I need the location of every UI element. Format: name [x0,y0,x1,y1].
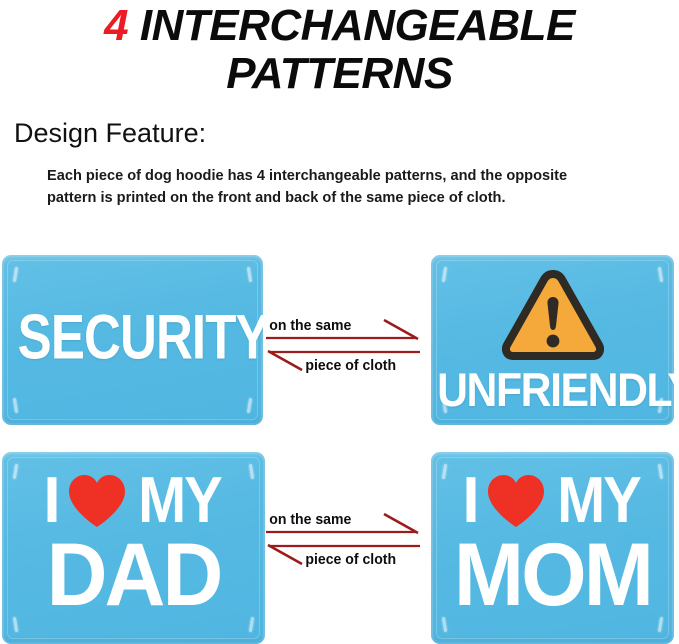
page-title-line-2: PATTERNS [0,50,679,98]
page-title: 4 INTERCHANGEABLE PATTERNS [0,0,679,98]
pattern-count: 4 [104,1,128,50]
design-feature-heading: Design Feature: [14,117,206,149]
corner-tab-icon [249,617,254,632]
warning-triangle-icon [502,269,604,361]
annotation-same-cloth-bottom: on the same piece of cloth [266,512,422,574]
annotation-bottom-label: piece of cloth [305,552,396,568]
patch-security: SECURITY [2,255,263,425]
corner-tab-icon [442,617,447,632]
page-title-line-1-text: INTERCHANGEABLE [128,1,575,50]
patch-unfriendly-label: UNFRIENDLY [437,366,668,414]
patch-dad-line-1: I MY [2,470,265,532]
corner-tab-icon [658,617,663,632]
heart-icon [67,473,127,529]
corner-tab-icon [247,267,252,282]
patch-mom-line-2: MOM [433,532,671,617]
design-feature-description: Each piece of dog hoodie has 4 interchan… [47,165,581,208]
annotation-top-label: on the same [269,512,351,528]
page-title-line-1: 4 INTERCHANGEABLE [0,0,679,50]
annotation-same-cloth-top: on the same piece of cloth [266,318,422,380]
patch-security-label: SECURITY [18,307,248,370]
annotation-top-label: on the same [269,318,351,334]
patch-mom-content: I MY MOM [431,470,674,616]
corner-tab-icon [247,398,252,413]
annotation-bottom-label: piece of cloth [305,358,396,374]
patch-dad-line-2: DAD [5,532,263,617]
patch-i-love-my-dad: I MY DAD [2,452,265,644]
heart-icon [486,473,546,529]
patch-unfriendly: UNFRIENDLY [431,255,674,425]
patch-dad-content: I MY DAD [2,470,265,616]
patch-dad-word-my: MY [138,469,221,533]
patch-mom-word-i: I [462,469,477,533]
patch-i-love-my-mom: I MY MOM [431,452,674,644]
patch-mom-line-1: I MY [431,470,674,532]
corner-tab-icon [13,617,18,632]
patch-mom-word-my: MY [557,469,640,533]
corner-tab-icon [13,267,18,282]
corner-tab-icon [442,267,447,282]
corner-tab-icon [13,398,18,413]
patch-dad-word-i: I [43,469,58,533]
corner-tab-icon [658,267,663,282]
